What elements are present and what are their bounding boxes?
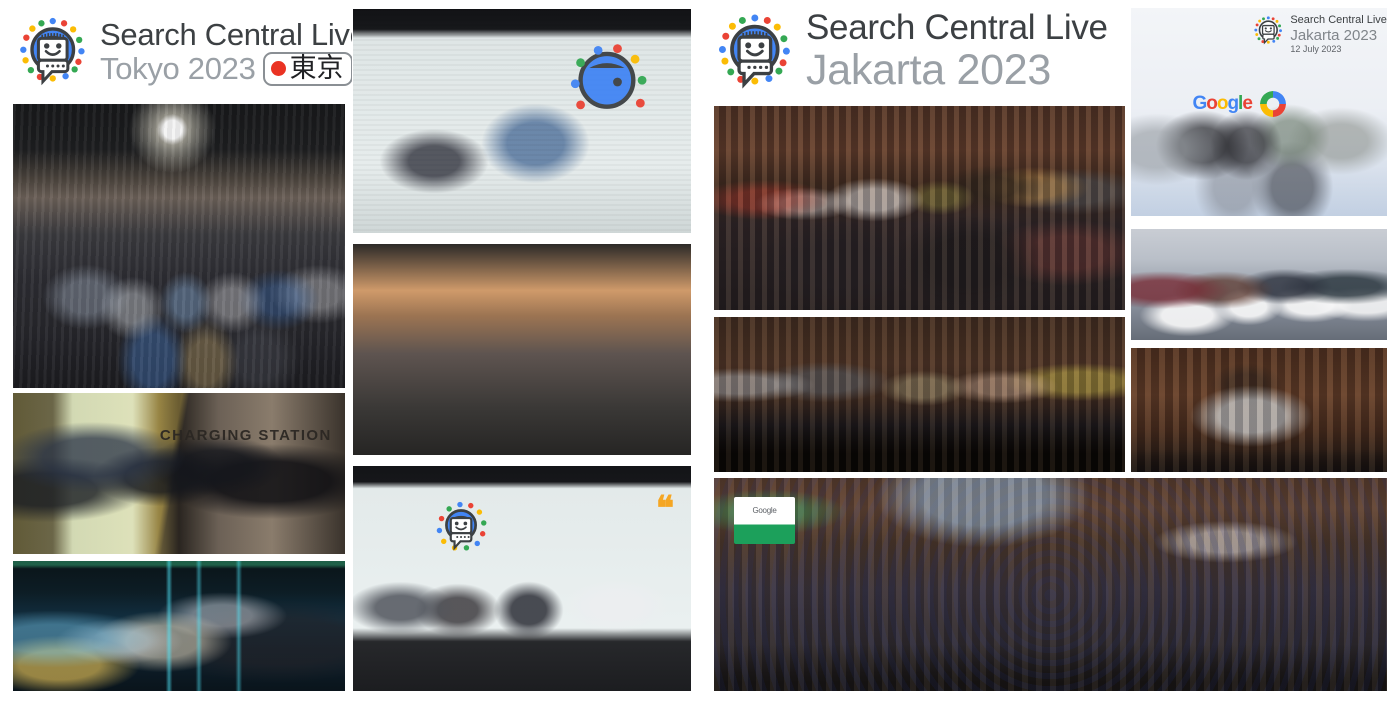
tokyo-heart-gesture-photo[interactable]: Two attendees forming a heart shape with… — [352, 243, 692, 456]
jakarta-qa-speaker-photo[interactable]: Attendee asking a question into a microp… — [1130, 347, 1388, 473]
jakarta-tote-bags-photo[interactable]: Four attendees holding up Search Central… — [1130, 228, 1388, 341]
tokyo-networking-drinks-photo[interactable]: Attendees laughing with drinks at the ev… — [12, 560, 346, 692]
google-wordmark-prop: Google — [1192, 93, 1251, 115]
tokyo-panel-discussion-photo[interactable]: ❝ Four panelists seated on stage, one sp… — [352, 465, 692, 692]
backdrop-title-line2: Jakarta 2023 — [1290, 27, 1387, 44]
tokyo-yukata-speaker-photo[interactable]: Speaker in a blue yukata raising both ar… — [352, 8, 692, 234]
jakarta-panel-discussion-photo[interactable]: Five panelists on stage in black armchai… — [713, 316, 1126, 473]
google-stage-sign: Google — [734, 497, 795, 544]
stage-mascot-backdrop-icon — [563, 31, 651, 130]
backdrop-title-line1: Search Central Live — [1290, 14, 1387, 27]
jakarta-audience-photo[interactable]: Jakarta attendees in tiered auditorium s… — [713, 105, 1126, 311]
search-central-mascot-icon — [14, 12, 90, 92]
tokyo-kanji-label: 東京 — [290, 55, 344, 82]
jakarta-photo-wall-photo[interactable]: Search Central Live Jakarta 2023 12 July… — [1130, 7, 1388, 217]
tokyo-japan-badge: 東京 — [263, 52, 353, 86]
jakarta-logo-text: Search Central Live Jakarta 2023 — [806, 9, 1108, 94]
backdrop-date: 12 July 2023 — [1290, 44, 1387, 56]
stage-mascot-backdrop-icon — [434, 489, 488, 566]
search-central-mascot-icon — [712, 8, 796, 96]
photo-wall-props: Google — [1192, 91, 1285, 117]
search-central-mascot-icon — [1251, 14, 1285, 48]
jakarta-logo-lockup: Search Central Live Jakarta 2023 — [712, 8, 1108, 96]
collage-canvas: Search Central Live Tokyo 2023 東京 Large … — [0, 0, 1400, 704]
jakarta-backdrop-header: Search Central Live Jakarta 2023 12 July… — [1251, 14, 1387, 56]
quote-mark-icon: ❝ — [656, 493, 674, 527]
charging-station-sign: CHARGING STATION — [160, 427, 332, 444]
jakarta-group-photo[interactable]: Google Full-room Jakarta group photo wit… — [713, 477, 1388, 692]
search-magnifier-icon — [1260, 91, 1286, 117]
jakarta-logo-line1: Search Central Live — [806, 9, 1108, 47]
google-wordmark-label: Google — [734, 497, 795, 515]
jakarta-logo-line2: Jakarta 2023 — [806, 47, 1108, 94]
tokyo-logo-lockup: Search Central Live Tokyo 2023 東京 — [14, 12, 367, 92]
tokyo-charging-station-photo[interactable]: CHARGING STATION Attendees exchanging a … — [12, 392, 346, 555]
tokyo-logo-line1: Search Central Live — [100, 18, 367, 51]
japan-flag-dot-icon — [271, 61, 286, 76]
tokyo-logo-line2: Tokyo 2023 — [100, 52, 256, 86]
tokyo-logo-text: Search Central Live Tokyo 2023 東京 — [100, 18, 367, 86]
tokyo-audience-group-photo[interactable]: Large Tokyo audience group photo in audi… — [12, 103, 346, 389]
